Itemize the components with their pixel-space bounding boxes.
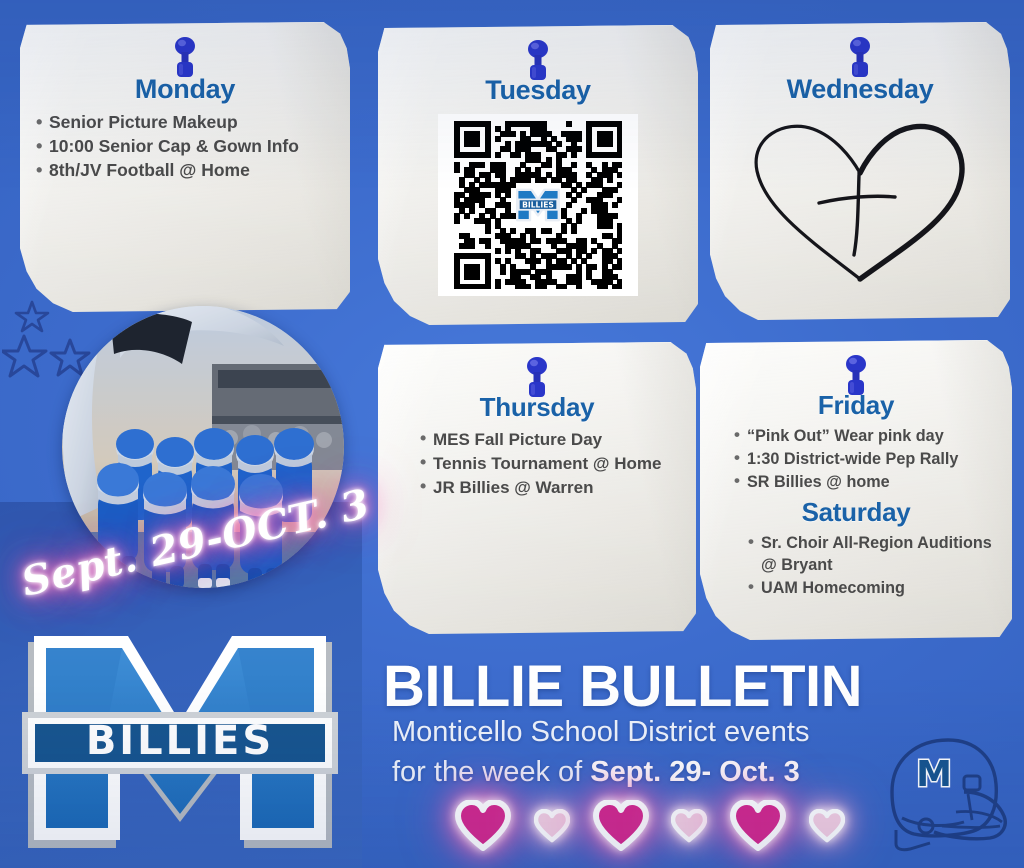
qr-center-logo: BILLIES	[514, 185, 562, 225]
page-title: BILLIE BULLETIN	[383, 658, 862, 716]
event-list-monday: Senior Picture Makeup 10:00 Senior Cap &…	[34, 111, 336, 182]
hearts-decoration-row	[455, 792, 845, 860]
subtitle-prefix: for the week of	[392, 756, 590, 788]
list-item: 10:00 Senior Cap & Gown Info	[34, 135, 332, 158]
pushpin-icon	[168, 36, 202, 82]
pushpin-icon	[520, 356, 554, 402]
helmet-letter: M	[916, 754, 952, 795]
list-item: “Pink Out” Wear pink day	[732, 425, 998, 447]
list-item: Senior Picture Makeup	[34, 111, 332, 134]
list-item: SR Billies @ home	[732, 471, 998, 493]
heart-icon-large	[730, 800, 786, 852]
list-item: UAM Homecoming	[746, 577, 998, 599]
pushpin-icon	[521, 39, 555, 85]
pushpin-icon	[843, 36, 877, 82]
billies-m-logo: BILLIES	[8, 608, 352, 860]
heart-icon-small	[671, 809, 707, 843]
billies-banner-text: BILLIES	[86, 718, 274, 764]
sticky-note-friday-saturday[interactable]: Friday “Pink Out” Wear pink day 1:30 Dis…	[700, 340, 1012, 640]
qr-code-icon[interactable]: BILLIES	[438, 114, 638, 296]
sticky-note-tuesday[interactable]: Tuesday BILLIES	[378, 25, 698, 325]
heart-icon-large	[455, 800, 511, 852]
event-list-thursday: MES Fall Picture Day Tennis Tournament @…	[392, 428, 682, 499]
sticky-note-wednesday[interactable]: Wednesday	[710, 22, 1010, 320]
list-item: 1:30 District-wide Pep Rally	[732, 448, 998, 470]
qr-logo-text: BILLIES	[522, 201, 554, 210]
heart-with-cross-icon	[741, 115, 979, 287]
heart-icon-small	[809, 809, 845, 843]
sticky-note-monday[interactable]: Monday Senior Picture Makeup 10:00 Senio…	[20, 22, 350, 312]
day-title-saturday: Saturday	[714, 497, 998, 528]
subtitle-date-range: Sept. 29- Oct. 3	[590, 756, 800, 788]
heart-icon-large	[593, 800, 649, 852]
heart-icon-small	[534, 809, 570, 843]
football-helmet-icon: M	[872, 730, 1017, 855]
subtitle-line-1: Monticello School District events	[392, 718, 809, 747]
event-list-friday: “Pink Out” Wear pink day 1:30 District-w…	[714, 425, 998, 493]
sticky-note-thursday[interactable]: Thursday MES Fall Picture Day Tennis Tou…	[378, 342, 696, 634]
subtitle-line-2: for the week of Sept. 29- Oct. 3	[392, 758, 800, 787]
bulletin-canvas: Monday Senior Picture Makeup 10:00 Senio…	[0, 0, 1024, 868]
list-item: MES Fall Picture Day	[418, 428, 682, 451]
pushpin-icon	[839, 354, 873, 400]
event-list-saturday: Sr. Choir All-Region Auditions @ Bryant …	[714, 532, 998, 599]
list-item: Sr. Choir All-Region Auditions @ Bryant	[746, 532, 998, 576]
list-item: JR Billies @ Warren	[418, 476, 682, 499]
list-item: Tennis Tournament @ Home	[418, 452, 682, 475]
list-item: 8th/JV Football @ Home	[34, 159, 332, 182]
